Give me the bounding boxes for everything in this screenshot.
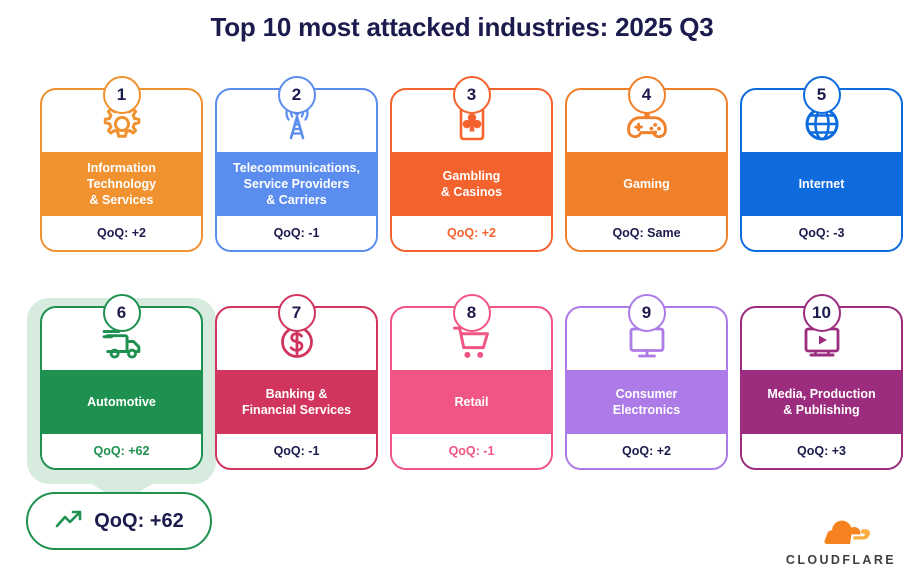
industry-name: InformationTechnology& Services [87, 160, 156, 208]
industry-name-band: Retail [392, 370, 551, 434]
page-title: Top 10 most attacked industries: 2025 Q3 [0, 12, 924, 43]
qoq-footer: QoQ: Same [567, 216, 726, 250]
trending-up-icon [54, 508, 84, 535]
qoq-footer: QoQ: +2 [42, 216, 201, 250]
rank-badge: 2 [278, 76, 316, 114]
qoq-label: QoQ: +3 [797, 444, 846, 458]
qoq-footer: QoQ: -1 [217, 216, 376, 250]
rank-number: 6 [117, 303, 126, 323]
cloudflare-wordmark: CLOUDFLARE [786, 553, 896, 567]
industry-cell-6: AutomotiveQoQ: +626 [40, 294, 203, 470]
rank-badge: 5 [803, 76, 841, 114]
industry-cell-10: Media, Production& PublishingQoQ: +310 [740, 294, 903, 470]
industry-name: Automotive [87, 394, 156, 410]
rank-badge: 7 [278, 294, 316, 332]
rank-number: 8 [467, 303, 476, 323]
industry-cell-4: GamingQoQ: Same4 [565, 76, 728, 252]
industry-cell-5: InternetQoQ: -35 [740, 76, 903, 252]
industry-name: Gaming [623, 176, 670, 192]
rank-number: 1 [117, 85, 126, 105]
industry-name-band: Media, Production& Publishing [742, 370, 901, 434]
qoq-label: QoQ: -1 [274, 444, 320, 458]
rank-badge: 4 [628, 76, 666, 114]
qoq-footer: QoQ: +3 [742, 434, 901, 468]
industry-cell-3: Gambling& CasinosQoQ: +23 [390, 76, 553, 252]
cloudflare-logo: CLOUDFLARE [786, 520, 896, 567]
industry-name-band: ConsumerElectronics [567, 370, 726, 434]
cloudflare-cloud-icon [810, 520, 872, 551]
industry-cell-9: ConsumerElectronicsQoQ: +29 [565, 294, 728, 470]
qoq-label: QoQ: -1 [449, 444, 495, 458]
industry-cell-8: RetailQoQ: -18 [390, 294, 553, 470]
industry-cell-1: InformationTechnology& ServicesQoQ: +21 [40, 76, 203, 252]
industry-name: Retail [454, 394, 488, 410]
qoq-label: QoQ: +62 [94, 444, 150, 458]
rank-badge: 6 [103, 294, 141, 332]
rank-number: 5 [817, 85, 826, 105]
qoq-callout: QoQ: +62 [26, 492, 212, 550]
industry-name-band: Automotive [42, 370, 201, 434]
qoq-label: QoQ: -1 [274, 226, 320, 240]
rank-badge: 1 [103, 76, 141, 114]
industry-name: Banking &Financial Services [242, 386, 351, 418]
industry-cell-7: Banking &Financial ServicesQoQ: -17 [215, 294, 378, 470]
industry-cell-2: Telecommunications,Service Providers& Ca… [215, 76, 378, 252]
industry-name: Gambling& Casinos [441, 168, 502, 200]
qoq-callout-label: QoQ: +62 [94, 510, 183, 533]
rank-number: 3 [467, 85, 476, 105]
qoq-footer: QoQ: -3 [742, 216, 901, 250]
qoq-label: QoQ: -3 [799, 226, 845, 240]
rank-badge: 8 [453, 294, 491, 332]
rank-badge: 9 [628, 294, 666, 332]
qoq-footer: QoQ: -1 [392, 434, 551, 468]
industry-name: Telecommunications,Service Providers& Ca… [233, 160, 360, 208]
qoq-footer: QoQ: -1 [217, 434, 376, 468]
infographic-page: Top 10 most attacked industries: 2025 Q3… [0, 0, 924, 585]
industry-name-band: Banking &Financial Services [217, 370, 376, 434]
rank-number: 4 [642, 85, 651, 105]
qoq-label: QoQ: +2 [447, 226, 496, 240]
industry-name-band: Telecommunications,Service Providers& Ca… [217, 152, 376, 216]
qoq-label: QoQ: +2 [622, 444, 671, 458]
qoq-footer: QoQ: +2 [392, 216, 551, 250]
qoq-footer: QoQ: +2 [567, 434, 726, 468]
qoq-label: QoQ: Same [612, 226, 680, 240]
rank-number: 9 [642, 303, 651, 323]
industry-name-band: InformationTechnology& Services [42, 152, 201, 216]
industry-name-band: Internet [742, 152, 901, 216]
rank-badge: 3 [453, 76, 491, 114]
rank-number: 7 [292, 303, 301, 323]
rank-number: 2 [292, 85, 301, 105]
rank-number: 10 [812, 303, 831, 323]
qoq-label: QoQ: +2 [97, 226, 146, 240]
qoq-footer: QoQ: +62 [42, 434, 201, 468]
industry-name: Internet [799, 176, 845, 192]
industry-name-band: Gambling& Casinos [392, 152, 551, 216]
industry-name-band: Gaming [567, 152, 726, 216]
rank-badge: 10 [803, 294, 841, 332]
industry-card-grid: InformationTechnology& ServicesQoQ: +21 … [40, 76, 884, 470]
industry-name: Media, Production& Publishing [767, 386, 875, 418]
industry-name: ConsumerElectronics [613, 386, 680, 418]
